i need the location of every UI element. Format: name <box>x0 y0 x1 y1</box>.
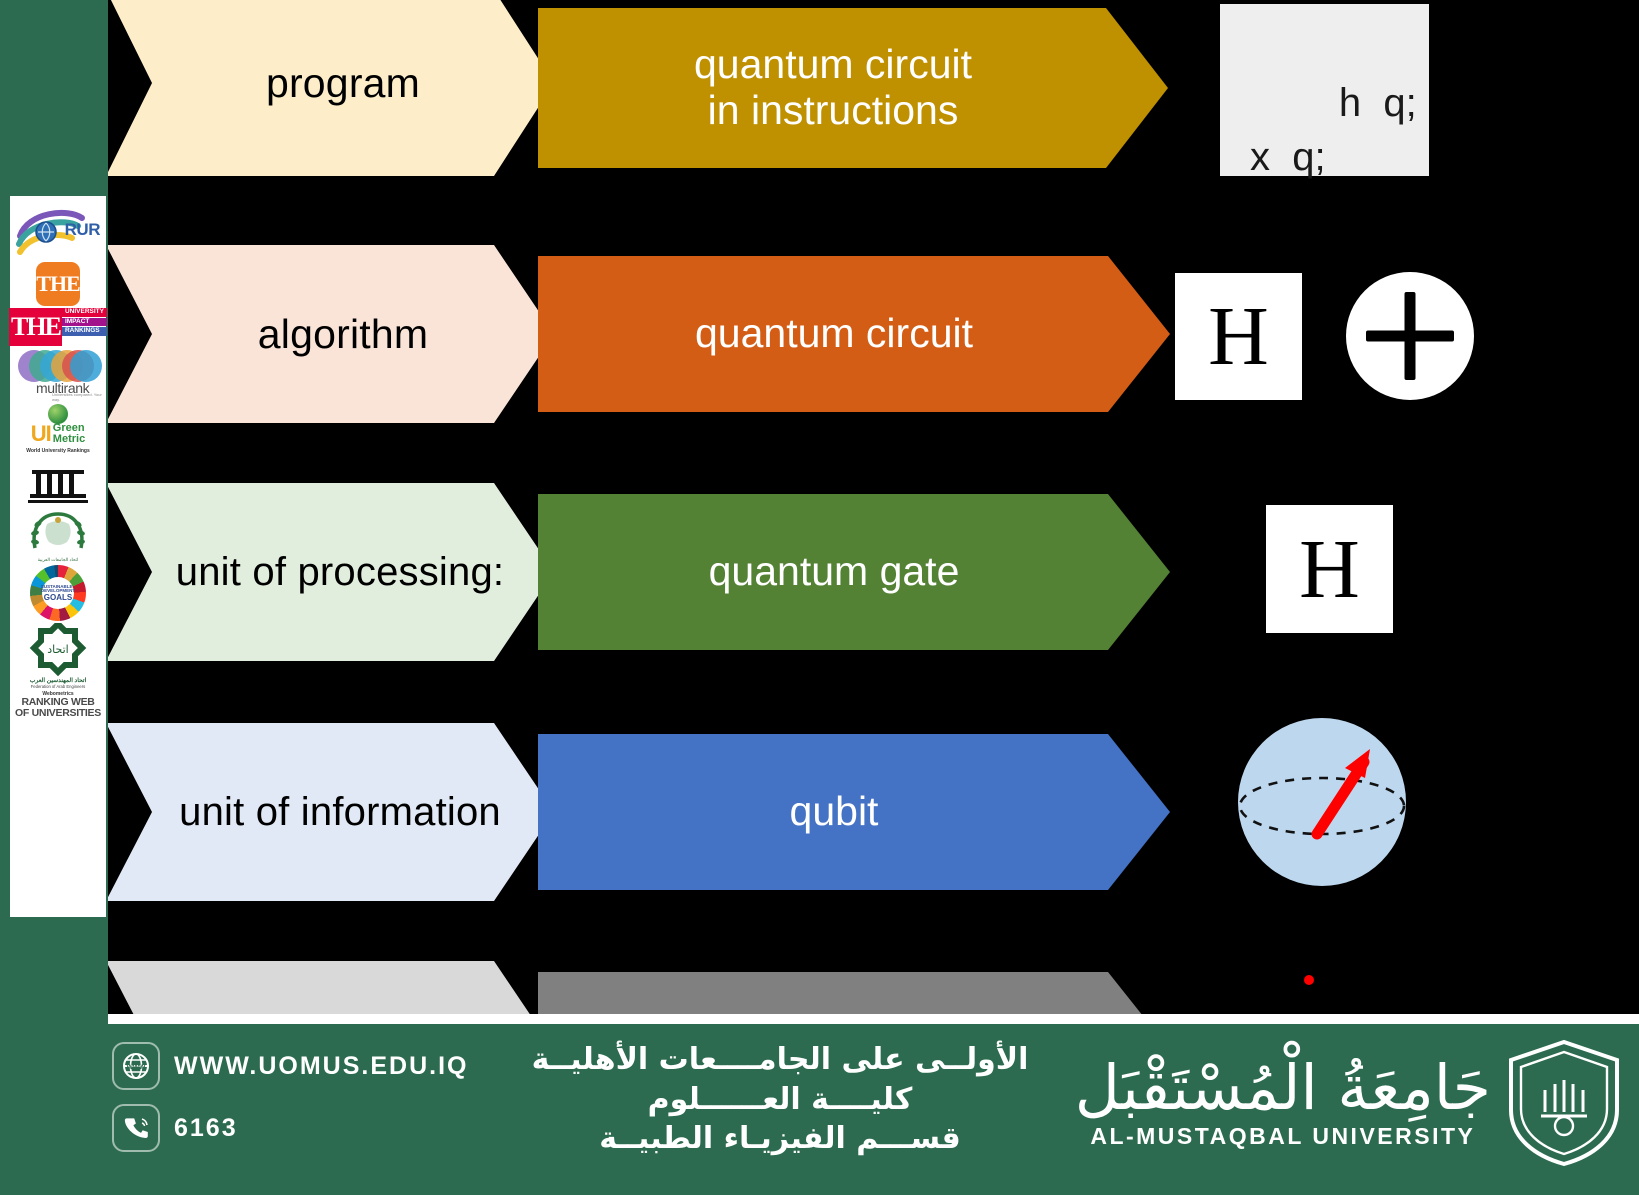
chevron-left-unit-of-information[interactable]: unit of information <box>108 723 554 901</box>
the-logo: THE <box>14 262 102 306</box>
red-marker-dot <box>1304 975 1314 985</box>
chevron-left-unit-of-information-label: unit of information <box>108 790 554 835</box>
webometrics-logo: Webometrics RANKING WEB OF UNIVERSITIES <box>14 691 102 718</box>
federation-arab-engineers-caption-ar: اتحاد المهندسين العرب <box>30 677 87 684</box>
association-arab-universities-caption: اتحاد الجامعات العربية <box>38 557 79 563</box>
university-name-english: AL-MUSTAQBAL UNIVERSITY <box>1075 1123 1491 1150</box>
chevron-left-unit-of-processing-label: unit of processing: <box>108 550 554 595</box>
cnot-target-icon <box>1346 272 1474 400</box>
chevron-right-quantum-circuit[interactable]: quantum circuit <box>538 256 1170 412</box>
rur-logo: RUR <box>14 202 102 260</box>
slide-content-area: program quantum circuit in instructions … <box>108 0 1639 1014</box>
footer-contact-block: www WWW.UOMUS.EDU.IQ 6163 <box>112 1042 468 1166</box>
classic-building-logo <box>14 462 102 506</box>
greenmetric-caption: World University Rankings <box>14 448 102 454</box>
svg-text:اتحاد: اتحاد <box>47 643 68 656</box>
umultirank-logo: multirank Universities compared. Your wa… <box>14 348 102 402</box>
page-footer: www WWW.UOMUS.EDU.IQ 6163 الأولــى على ا… <box>0 1014 1639 1195</box>
sdg-goals-logo: SUSTAINABLE DEVELOPMENT GOALS <box>14 565 102 621</box>
footer-website-text: WWW.UOMUS.EDU.IQ <box>174 1052 468 1081</box>
ui-greenmetric-logo: UI Green Metric World University Ranking… <box>14 404 102 460</box>
footer-separator <box>108 1014 1639 1024</box>
rur-logo-text: RUR <box>65 220 100 240</box>
chevron-right-quantum-gate[interactable]: quantum gate <box>538 494 1170 650</box>
university-crest-icon <box>1505 1038 1623 1168</box>
chevron-left-algorithm[interactable]: algorithm <box>108 245 554 423</box>
webometrics-line-1: RANKING WEB <box>21 697 94 708</box>
the-impact-line-3: RANKINGS <box>62 327 107 336</box>
bloch-sphere-body <box>1238 718 1406 886</box>
the-logo-text: THE <box>36 271 79 297</box>
sdg-goals-text: GOALS <box>44 594 72 602</box>
rankings-logo-rail: RUR THE THE UNIVERSITY IMPACT RANKINGS <box>10 196 106 917</box>
the-impact-rankings-logo: THE UNIVERSITY IMPACT RANKINGS <box>14 308 102 346</box>
greenmetric-line-2: Metric <box>53 434 85 445</box>
the-impact-line-2: IMPACT <box>62 318 107 327</box>
university-branding: جَامِعَةُ الْمُسْتَقْبَل AL-MUSTAQBAL UN… <box>1075 1038 1623 1168</box>
globe-www-icon: www <box>112 1042 160 1090</box>
footer-center-text: الأولــى على الجامــــعات الأهليــة كليـ… <box>470 1040 1090 1159</box>
federation-arab-engineers-logo: اتحاد اتحاد المهندسين العرب Federation o… <box>14 623 102 689</box>
university-name-arabic: جَامِعَةُ الْمُسْتَقْبَل <box>1075 1057 1491 1119</box>
federation-arab-engineers-caption-en: Federation of Arab Engineers <box>31 684 85 689</box>
phone-icon <box>112 1104 160 1152</box>
chevron-right-qubit-label: qubit <box>538 789 1170 835</box>
h-gate-box-algorithm: H <box>1175 273 1302 400</box>
h-gate-letter-algorithm: H <box>1208 288 1269 385</box>
chevron-right-quantum-gate-label: quantum gate <box>538 549 1170 595</box>
footer-phone-row[interactable]: 6163 <box>112 1104 468 1152</box>
footer-phone-text: 6163 <box>174 1114 238 1143</box>
row-unit-of-information: unit of information qubit <box>108 0 1639 172</box>
the-impact-line-1: UNIVERSITY <box>62 308 107 317</box>
slide-page: RUR THE THE UNIVERSITY IMPACT RANKINGS <box>0 0 1639 1195</box>
webometrics-line-2: OF UNIVERSITIES <box>15 708 101 719</box>
association-arab-universities-logo: اتحاد الجامعات العربية <box>14 508 102 563</box>
chevron-right-quantum-circuit-label: quantum circuit <box>538 311 1170 357</box>
chevron-right-qubit[interactable]: qubit <box>538 734 1170 890</box>
footer-center-line-1: الأولــى على الجامــــعات الأهليــة <box>470 1040 1090 1080</box>
footer-website-row[interactable]: www WWW.UOMUS.EDU.IQ <box>112 1042 468 1090</box>
svg-text:www: www <box>126 1062 146 1071</box>
footer-center-line-3: قســـم الفيزيـاء الطبيــة <box>470 1119 1090 1159</box>
umultirank-logo-subtitle: Universities compared. Your way. <box>52 392 102 402</box>
h-gate-box-processing: H <box>1266 505 1393 633</box>
chevron-left-algorithm-label: algorithm <box>108 311 554 358</box>
chevron-right-partial[interactable] <box>538 972 1170 1014</box>
chevron-left-partial[interactable] <box>108 961 554 1014</box>
greenmetric-prefix: UI <box>31 421 51 447</box>
footer-center-line-2: كليــــة العــــــلوم <box>470 1080 1090 1120</box>
h-gate-letter-processing: H <box>1299 521 1360 618</box>
chevron-left-unit-of-processing[interactable]: unit of processing: <box>108 483 554 661</box>
bloch-sphere <box>1237 716 1407 888</box>
the-impact-mark: THE <box>9 308 62 346</box>
